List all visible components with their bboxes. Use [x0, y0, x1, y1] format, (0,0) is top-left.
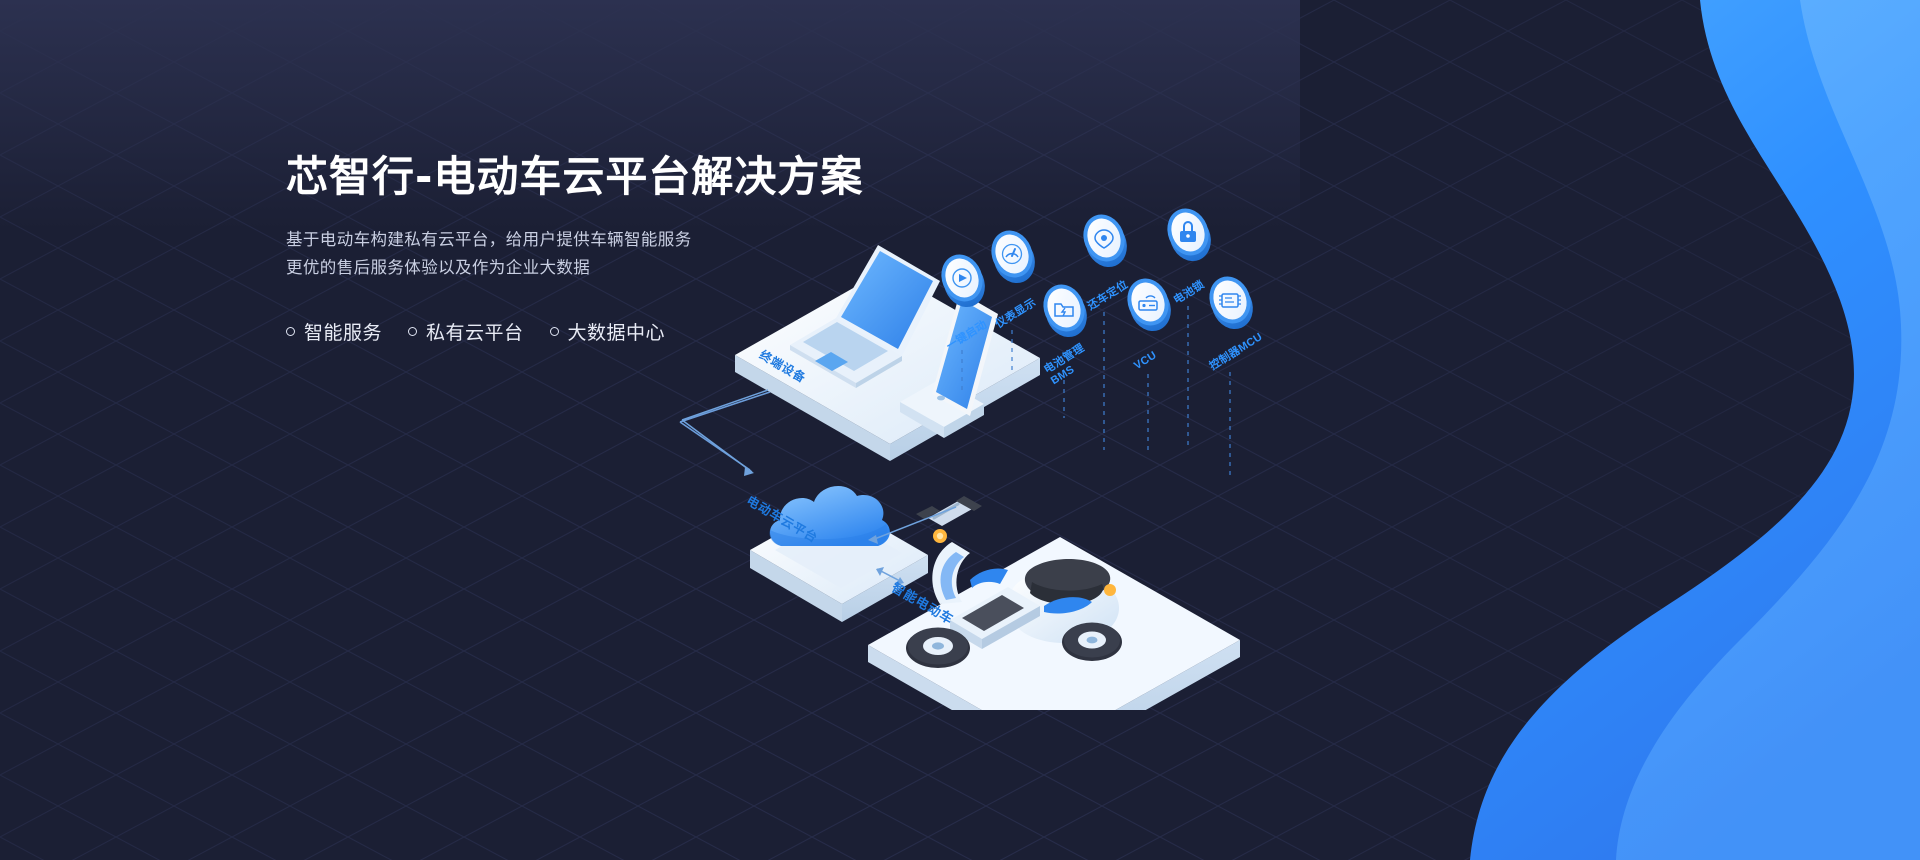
bullet-circle-icon: [286, 327, 295, 336]
capability-icon-return-locate[interactable]: [1076, 208, 1133, 273]
capability-icon-battery-lock[interactable]: [1160, 202, 1217, 267]
capability-icon-controller-mcu[interactable]: [1202, 270, 1259, 335]
illustration-svg: [640, 150, 1340, 710]
feature-item-smart-service: 智能服务: [286, 318, 382, 345]
feature-label: 私有云平台: [426, 318, 524, 345]
capability-icon-dashboard[interactable]: [984, 224, 1041, 289]
isometric-illustration: 一键启动 仪表显示 电池管理 BMS 还车定位 VCU 电池锁 控制器MCU 终…: [640, 150, 1340, 710]
arrow-terminal-to-cloud: [680, 392, 770, 470]
hero-banner: 芯智行-电动车云平台解决方案 基于电动车构建私有云平台，给用户提供车辆智能服务 …: [0, 0, 1920, 860]
capability-icon-battery-mgmt[interactable]: [1036, 278, 1093, 343]
feature-item-private-cloud: 私有云平台: [408, 318, 524, 345]
feature-label: 智能服务: [304, 318, 382, 345]
bullet-circle-icon: [408, 327, 417, 336]
bullet-circle-icon: [550, 327, 559, 336]
capability-icon-vcu[interactable]: [1120, 272, 1177, 337]
